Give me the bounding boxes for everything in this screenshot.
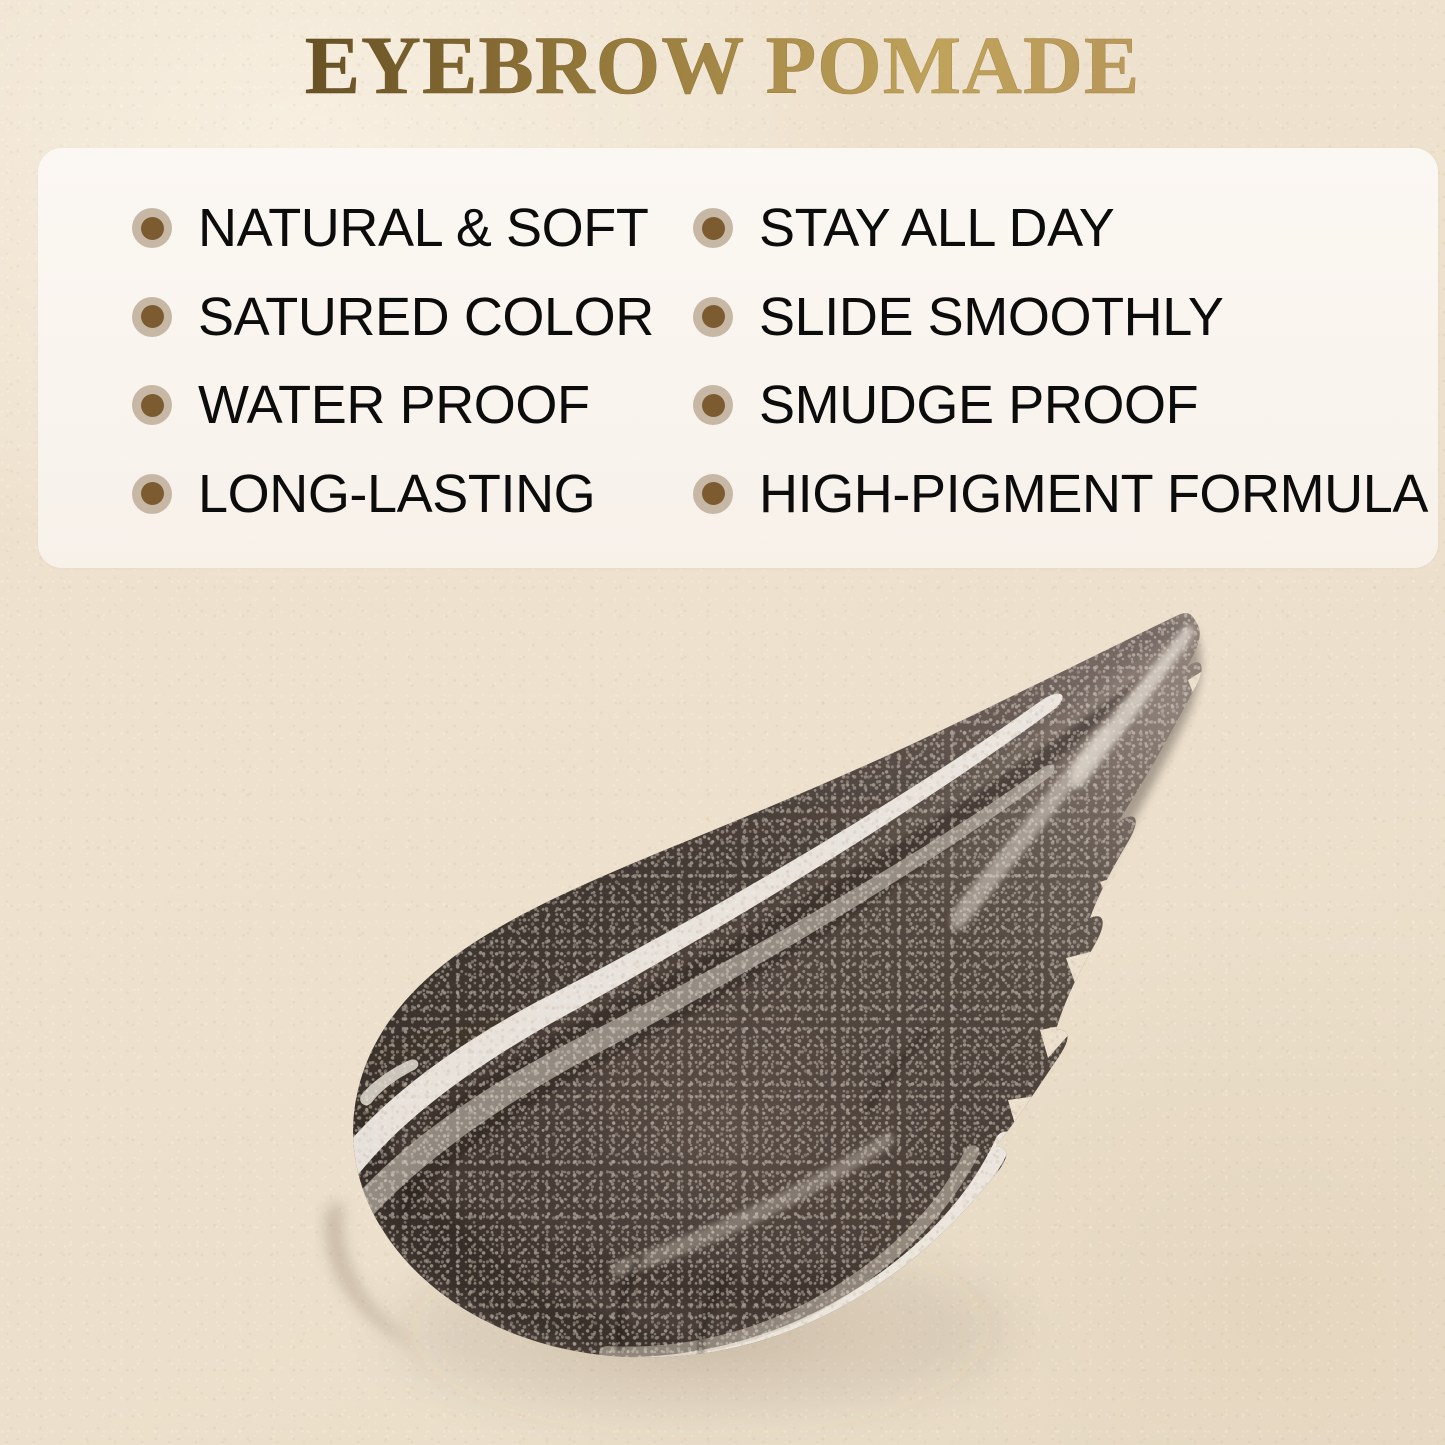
feature-label: NATURAL & SOFT [198,201,648,255]
feature-item-high-pigment-formula: HIGH-PIGMENT FORMULA [693,450,1438,539]
feature-item-natural-soft: NATURAL & SOFT [38,184,693,273]
product-marketing-image: EYEBROW POMADE NATURAL & SOFT STAY ALL D… [0,0,1445,1445]
feature-item-smudge-proof: SMUDGE PROOF [693,361,1438,450]
bullet-dot-icon [132,385,172,425]
bullet-dot-icon [132,474,172,514]
product-swatch [0,560,1445,1445]
feature-item-stay-all-day: STAY ALL DAY [693,184,1438,273]
feature-label: SMUDGE PROOF [759,378,1198,432]
feature-grid: NATURAL & SOFT STAY ALL DAY SATURED COLO… [38,148,1438,568]
bullet-dot-icon [693,385,733,425]
bullet-dot-icon [693,474,733,514]
feature-card: NATURAL & SOFT STAY ALL DAY SATURED COLO… [38,148,1438,568]
feature-item-satured-color: SATURED COLOR [38,273,693,362]
page-title: EYEBROW POMADE [0,24,1445,107]
feature-label: SLIDE SMOOTHLY [759,290,1224,344]
bullet-dot-icon [693,297,733,337]
feature-item-long-lasting: LONG-LASTING [38,450,693,539]
bullet-dot-icon [132,208,172,248]
feature-label: HIGH-PIGMENT FORMULA [759,467,1428,521]
bullet-dot-icon [693,208,733,248]
feature-label: WATER PROOF [198,378,590,432]
feature-label: STAY ALL DAY [759,201,1114,255]
feature-label: LONG-LASTING [198,467,595,521]
feature-item-slide-smoothly: SLIDE SMOOTHLY [693,273,1438,362]
pomade-smear-illustration [0,560,1445,1445]
feature-item-water-proof: WATER PROOF [38,361,693,450]
feature-label: SATURED COLOR [198,290,654,344]
bullet-dot-icon [132,297,172,337]
